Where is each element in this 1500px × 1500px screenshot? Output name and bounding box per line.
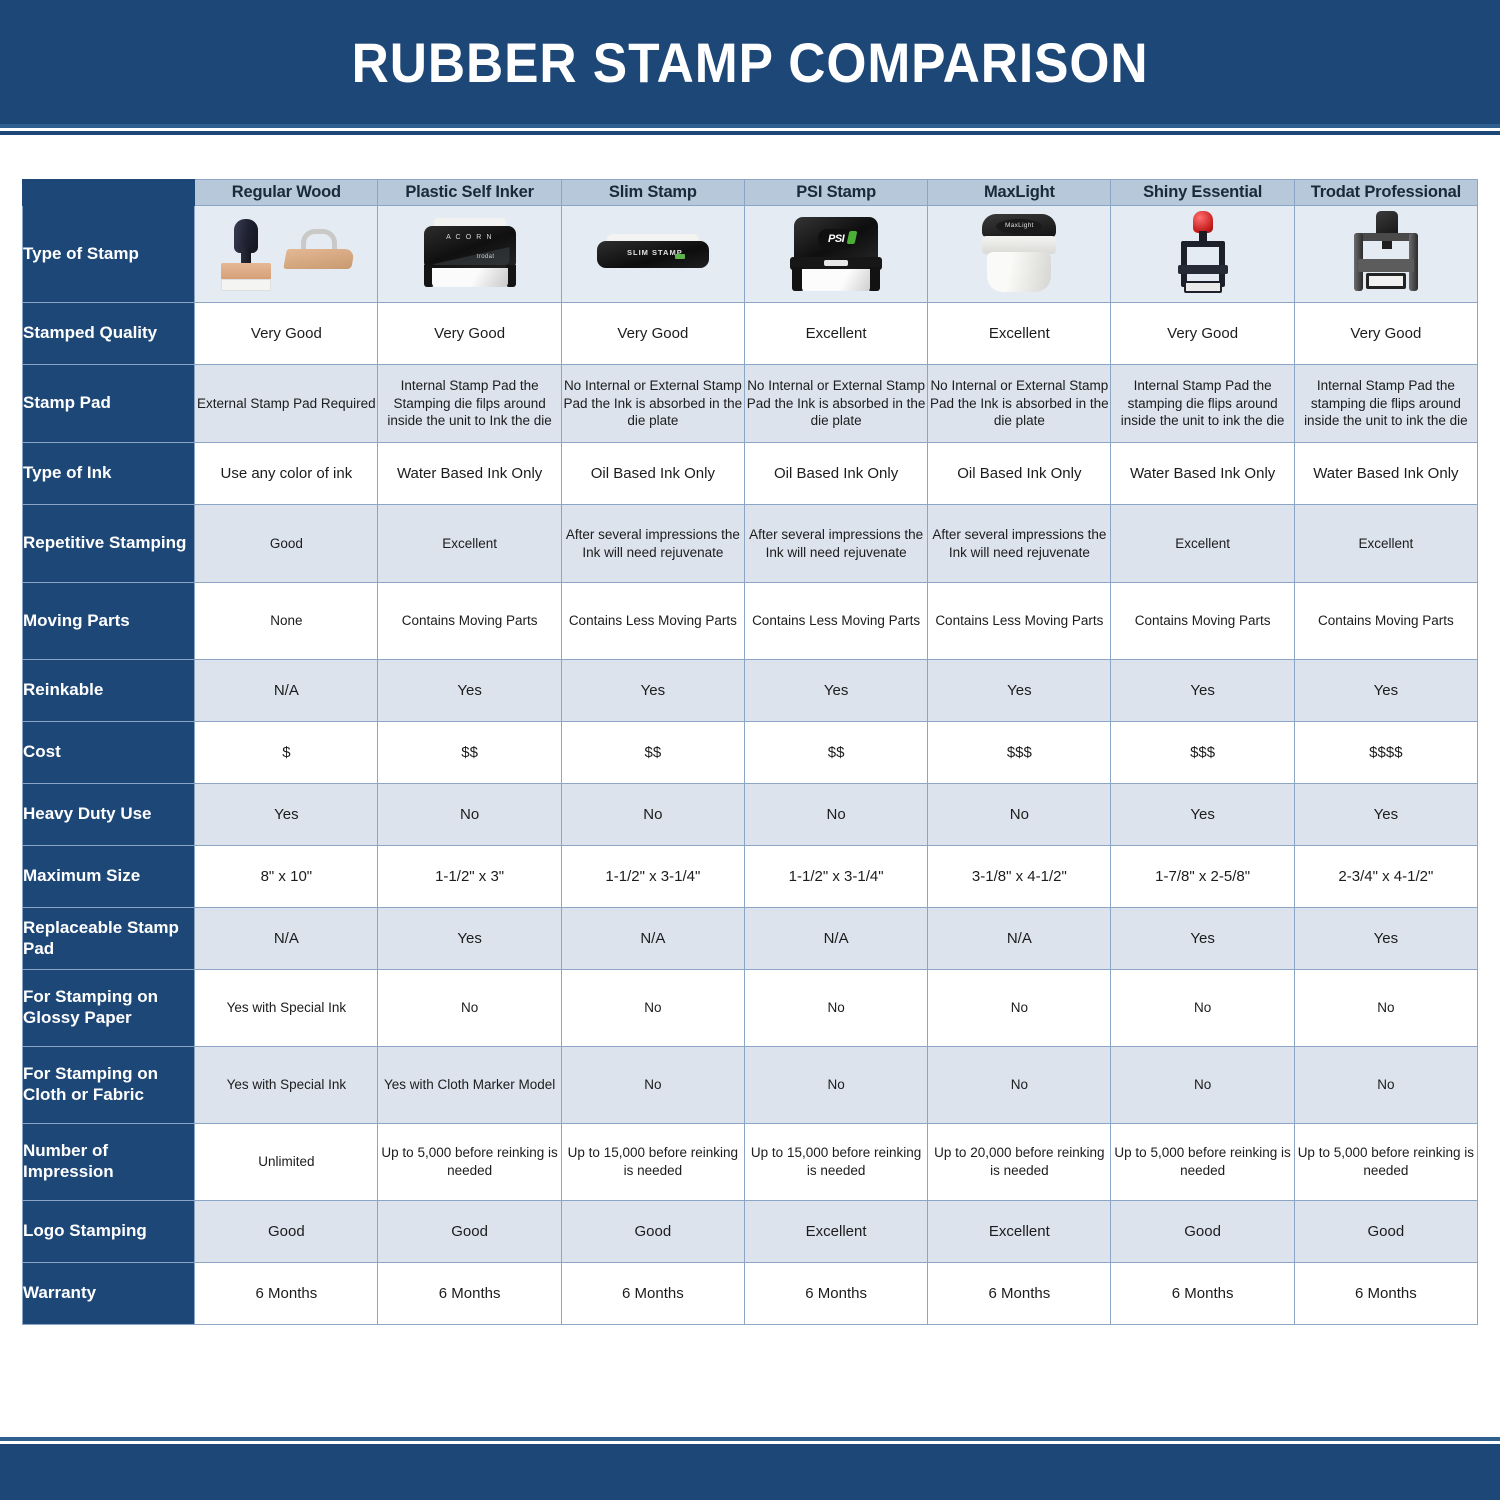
cell-image-maxlight: MaxLight: [928, 206, 1111, 303]
cell-cost-trodat-professional: $$$$: [1294, 722, 1477, 784]
table-row-cloth-or-fabric: For Stamping on Cloth or Fabric Yes with…: [23, 1047, 1478, 1124]
cell-reinkable-trodat-professional: Yes: [1294, 660, 1477, 722]
row-label-replaceable-stamp-pad: Replaceable Stamp Pad: [23, 908, 195, 970]
cell-warranty-shiny-essential: 6 Months: [1111, 1263, 1294, 1325]
cell-number-of-impression-shiny-essential: Up to 5,000 before reinking is needed: [1111, 1124, 1294, 1201]
cell-glossy-paper-shiny-essential: No: [1111, 970, 1294, 1047]
row-label-warranty: Warranty: [23, 1263, 195, 1325]
cell-reinkable-regular-wood: N/A: [195, 660, 378, 722]
table-row-replaceable-stamp-pad: Replaceable Stamp Pad N/A Yes N/A N/A N/…: [23, 908, 1478, 970]
cell-reinkable-plastic-self-inker: Yes: [378, 660, 561, 722]
cell-maximum-size-shiny-essential: 1-7/8" x 2-5/8": [1111, 846, 1294, 908]
cell-number-of-impression-plastic-self-inker: Up to 5,000 before reinking is needed: [378, 1124, 561, 1201]
maxlight-stamp-icon: MaxLight: [928, 206, 1110, 302]
cell-type-of-ink-regular-wood: Use any color of ink: [195, 443, 378, 505]
row-label-moving-parts: Moving Parts: [23, 583, 195, 660]
column-header-regular-wood[interactable]: Regular Wood: [195, 180, 378, 206]
cell-glossy-paper-maxlight: No: [928, 970, 1111, 1047]
cell-cloth-or-fabric-shiny-essential: No: [1111, 1047, 1294, 1124]
cell-reinkable-psi-stamp: Yes: [744, 660, 927, 722]
cell-moving-parts-slim-stamp: Contains Less Moving Parts: [561, 583, 744, 660]
cell-repetitive-stamping-psi-stamp: After several impressions the Ink will n…: [744, 505, 927, 583]
cell-type-of-ink-shiny-essential: Water Based Ink Only: [1111, 443, 1294, 505]
wood-stamp-icon: [195, 206, 377, 302]
cell-replaceable-stamp-pad-regular-wood: N/A: [195, 908, 378, 970]
cell-maximum-size-trodat-professional: 2-3/4" x 4-1/2": [1294, 846, 1477, 908]
cell-logo-stamping-regular-wood: Good: [195, 1201, 378, 1263]
cell-cloth-or-fabric-plastic-self-inker: Yes with Cloth Marker Model: [378, 1047, 561, 1124]
column-header-maxlight[interactable]: MaxLight: [928, 180, 1111, 206]
cell-repetitive-stamping-regular-wood: Good: [195, 505, 378, 583]
plastic-self-inker-icon: A C O R N trodat: [378, 206, 560, 302]
cell-type-of-ink-slim-stamp: Oil Based Ink Only: [561, 443, 744, 505]
cell-warranty-slim-stamp: 6 Months: [561, 1263, 744, 1325]
footer-bar: [0, 1448, 1500, 1500]
cell-repetitive-stamping-slim-stamp: After several impressions the Ink will n…: [561, 505, 744, 583]
row-label-cloth-or-fabric: For Stamping on Cloth or Fabric: [23, 1047, 195, 1124]
cell-glossy-paper-psi-stamp: No: [744, 970, 927, 1047]
cell-logo-stamping-shiny-essential: Good: [1111, 1201, 1294, 1263]
stamp-comparison-table: Regular Wood Plastic Self Inker Slim Sta…: [22, 179, 1478, 1325]
cell-replaceable-stamp-pad-plastic-self-inker: Yes: [378, 908, 561, 970]
cell-number-of-impression-slim-stamp: Up to 15,000 before reinking is needed: [561, 1124, 744, 1201]
cell-logo-stamping-maxlight: Excellent: [928, 1201, 1111, 1263]
cell-stamped-quality-trodat-professional: Very Good: [1294, 303, 1477, 365]
cell-image-trodat-professional: [1294, 206, 1477, 303]
cell-cost-shiny-essential: $$$: [1111, 722, 1294, 784]
cell-stamp-pad-regular-wood: External Stamp Pad Required: [195, 365, 378, 443]
column-header-trodat-professional[interactable]: Trodat Professional: [1294, 180, 1477, 206]
cell-replaceable-stamp-pad-trodat-professional: Yes: [1294, 908, 1477, 970]
trodat-professional-stamp-icon: [1295, 206, 1477, 302]
page-footer: [0, 1437, 1500, 1500]
cell-cost-psi-stamp: $$: [744, 722, 927, 784]
cell-warranty-maxlight: 6 Months: [928, 1263, 1111, 1325]
cell-heavy-duty-use-regular-wood: Yes: [195, 784, 378, 846]
cell-stamped-quality-regular-wood: Very Good: [195, 303, 378, 365]
cell-warranty-plastic-self-inker: 6 Months: [378, 1263, 561, 1325]
cell-number-of-impression-psi-stamp: Up to 15,000 before reinking is needed: [744, 1124, 927, 1201]
cell-replaceable-stamp-pad-shiny-essential: Yes: [1111, 908, 1294, 970]
cell-logo-stamping-psi-stamp: Excellent: [744, 1201, 927, 1263]
cell-cost-plastic-self-inker: $$: [378, 722, 561, 784]
cell-type-of-ink-maxlight: Oil Based Ink Only: [928, 443, 1111, 505]
cell-heavy-duty-use-slim-stamp: No: [561, 784, 744, 846]
cell-cloth-or-fabric-regular-wood: Yes with Special Ink: [195, 1047, 378, 1124]
cell-cost-maxlight: $$$: [928, 722, 1111, 784]
page-title: RUBBER STAMP COMPARISON: [352, 30, 1149, 95]
cell-cloth-or-fabric-trodat-professional: No: [1294, 1047, 1477, 1124]
table-row-warranty: Warranty 6 Months 6 Months 6 Months 6 Mo…: [23, 1263, 1478, 1325]
cell-moving-parts-plastic-self-inker: Contains Moving Parts: [378, 583, 561, 660]
row-label-logo-stamping: Logo Stamping: [23, 1201, 195, 1263]
row-label-repetitive-stamping: Repetitive Stamping: [23, 505, 195, 583]
cell-cost-slim-stamp: $$: [561, 722, 744, 784]
row-label-reinkable: Reinkable: [23, 660, 195, 722]
cell-number-of-impression-trodat-professional: Up to 5,000 before reinking is needed: [1294, 1124, 1477, 1201]
cell-stamped-quality-plastic-self-inker: Very Good: [378, 303, 561, 365]
cell-reinkable-maxlight: Yes: [928, 660, 1111, 722]
cell-heavy-duty-use-shiny-essential: Yes: [1111, 784, 1294, 846]
cell-image-psi-stamp: PSI: [744, 206, 927, 303]
cell-repetitive-stamping-plastic-self-inker: Excellent: [378, 505, 561, 583]
table-row-type-of-ink: Type of Ink Use any color of ink Water B…: [23, 443, 1478, 505]
cell-stamp-pad-psi-stamp: No Internal or External Stamp Pad the In…: [744, 365, 927, 443]
cell-type-of-ink-trodat-professional: Water Based Ink Only: [1294, 443, 1477, 505]
cell-image-plastic-self-inker: A C O R N trodat: [378, 206, 561, 303]
cell-cloth-or-fabric-psi-stamp: No: [744, 1047, 927, 1124]
cell-stamped-quality-maxlight: Excellent: [928, 303, 1111, 365]
column-header-psi-stamp[interactable]: PSI Stamp: [744, 180, 927, 206]
psi-brand-text: PSI: [828, 232, 844, 247]
cell-image-shiny-essential: [1111, 206, 1294, 303]
row-label-number-of-impression: Number of Impression: [23, 1124, 195, 1201]
cell-warranty-psi-stamp: 6 Months: [744, 1263, 927, 1325]
cell-image-regular-wood: [195, 206, 378, 303]
cell-glossy-paper-regular-wood: Yes with Special Ink: [195, 970, 378, 1047]
cell-reinkable-slim-stamp: Yes: [561, 660, 744, 722]
cell-repetitive-stamping-maxlight: After several impressions the Ink will n…: [928, 505, 1111, 583]
banner-divider-inner: [0, 131, 1500, 135]
cell-replaceable-stamp-pad-slim-stamp: N/A: [561, 908, 744, 970]
page-body: Regular Wood Plastic Self Inker Slim Sta…: [0, 179, 1500, 1325]
table-row-number-of-impression: Number of Impression Unlimited Up to 5,0…: [23, 1124, 1478, 1201]
cell-glossy-paper-plastic-self-inker: No: [378, 970, 561, 1047]
table-row-cost: Cost $ $$ $$ $$ $$$ $$$ $$$$: [23, 722, 1478, 784]
shiny-essential-stamp-icon: [1111, 206, 1293, 302]
cell-moving-parts-psi-stamp: Contains Less Moving Parts: [744, 583, 927, 660]
cell-reinkable-shiny-essential: Yes: [1111, 660, 1294, 722]
cell-repetitive-stamping-shiny-essential: Excellent: [1111, 505, 1294, 583]
cell-maximum-size-regular-wood: 8" x 10": [195, 846, 378, 908]
table-row-stamped-quality: Stamped Quality Very Good Very Good Very…: [23, 303, 1478, 365]
trodat-brand-text: trodat: [466, 254, 506, 262]
cell-warranty-regular-wood: 6 Months: [195, 1263, 378, 1325]
cell-moving-parts-shiny-essential: Contains Moving Parts: [1111, 583, 1294, 660]
cell-logo-stamping-trodat-professional: Good: [1294, 1201, 1477, 1263]
cell-cloth-or-fabric-maxlight: No: [928, 1047, 1111, 1124]
table-row-maximum-size: Maximum Size 8" x 10" 1-1/2" x 3" 1-1/2"…: [23, 846, 1478, 908]
table-corner-cell: [23, 180, 195, 206]
cell-stamp-pad-trodat-professional: Internal Stamp Pad the stamping die flip…: [1294, 365, 1477, 443]
table-header-row: Regular Wood Plastic Self Inker Slim Sta…: [23, 180, 1478, 206]
row-label-type-of-ink: Type of Ink: [23, 443, 195, 505]
cell-stamped-quality-slim-stamp: Very Good: [561, 303, 744, 365]
cell-stamp-pad-maxlight: No Internal or External Stamp Pad the In…: [928, 365, 1111, 443]
row-label-type-of-stamp: Type of Stamp: [23, 206, 195, 303]
cell-glossy-paper-trodat-professional: No: [1294, 970, 1477, 1047]
cell-stamped-quality-shiny-essential: Very Good: [1111, 303, 1294, 365]
table-row-logo-stamping: Logo Stamping Good Good Good Excellent E…: [23, 1201, 1478, 1263]
column-header-shiny-essential[interactable]: Shiny Essential: [1111, 180, 1294, 206]
table-row-reinkable: Reinkable N/A Yes Yes Yes Yes Yes Yes: [23, 660, 1478, 722]
cell-replaceable-stamp-pad-psi-stamp: N/A: [744, 908, 927, 970]
page-banner: RUBBER STAMP COMPARISON: [0, 0, 1500, 124]
row-label-maximum-size: Maximum Size: [23, 846, 195, 908]
cell-stamped-quality-psi-stamp: Excellent: [744, 303, 927, 365]
cell-number-of-impression-regular-wood: Unlimited: [195, 1124, 378, 1201]
cell-glossy-paper-slim-stamp: No: [561, 970, 744, 1047]
cell-moving-parts-trodat-professional: Contains Moving Parts: [1294, 583, 1477, 660]
row-label-cost: Cost: [23, 722, 195, 784]
cell-heavy-duty-use-trodat-professional: Yes: [1294, 784, 1477, 846]
slim-stamp-icon: SLIM STAMP: [562, 206, 744, 302]
column-header-slim-stamp[interactable]: Slim Stamp: [561, 180, 744, 206]
cell-stamp-pad-shiny-essential: Internal Stamp Pad the stamping die flip…: [1111, 365, 1294, 443]
cell-image-slim-stamp: SLIM STAMP: [561, 206, 744, 303]
cell-moving-parts-regular-wood: None: [195, 583, 378, 660]
cell-moving-parts-maxlight: Contains Less Moving Parts: [928, 583, 1111, 660]
cell-cost-regular-wood: $: [195, 722, 378, 784]
row-label-heavy-duty-use: Heavy Duty Use: [23, 784, 195, 846]
row-label-glossy-paper: For Stamping on Glossy Paper: [23, 970, 195, 1047]
acorn-brand-text: A C O R N: [440, 233, 500, 242]
cell-heavy-duty-use-plastic-self-inker: No: [378, 784, 561, 846]
cell-maximum-size-psi-stamp: 1-1/2" x 3-1/4": [744, 846, 927, 908]
table-row-repetitive-stamping: Repetitive Stamping Good Excellent After…: [23, 505, 1478, 583]
cell-logo-stamping-slim-stamp: Good: [561, 1201, 744, 1263]
cell-cloth-or-fabric-slim-stamp: No: [561, 1047, 744, 1124]
cell-maximum-size-plastic-self-inker: 1-1/2" x 3": [378, 846, 561, 908]
cell-stamp-pad-slim-stamp: No Internal or External Stamp Pad the In…: [561, 365, 744, 443]
cell-heavy-duty-use-psi-stamp: No: [744, 784, 927, 846]
cell-type-of-ink-plastic-self-inker: Water Based Ink Only: [378, 443, 561, 505]
table-row-moving-parts: Moving Parts None Contains Moving Parts …: [23, 583, 1478, 660]
cell-stamp-pad-plastic-self-inker: Internal Stamp Pad the Stamping die filp…: [378, 365, 561, 443]
cell-replaceable-stamp-pad-maxlight: N/A: [928, 908, 1111, 970]
cell-number-of-impression-maxlight: Up to 20,000 before reinking is needed: [928, 1124, 1111, 1201]
table-row-stamp-pad: Stamp Pad External Stamp Pad Required In…: [23, 365, 1478, 443]
row-label-stamped-quality: Stamped Quality: [23, 303, 195, 365]
row-label-stamp-pad: Stamp Pad: [23, 365, 195, 443]
cell-logo-stamping-plastic-self-inker: Good: [378, 1201, 561, 1263]
cell-heavy-duty-use-maxlight: No: [928, 784, 1111, 846]
cell-type-of-ink-psi-stamp: Oil Based Ink Only: [744, 443, 927, 505]
table-row-type-of-stamp: Type of Stamp: [23, 206, 1478, 303]
psi-stamp-icon: PSI: [745, 206, 927, 302]
cell-maximum-size-maxlight: 3-1/8" x 4-1/2": [928, 846, 1111, 908]
column-header-plastic-self-inker[interactable]: Plastic Self Inker: [378, 180, 561, 206]
table-row-heavy-duty-use: Heavy Duty Use Yes No No No No Yes Yes: [23, 784, 1478, 846]
cell-warranty-trodat-professional: 6 Months: [1294, 1263, 1477, 1325]
cell-maximum-size-slim-stamp: 1-1/2" x 3-1/4": [561, 846, 744, 908]
table-row-glossy-paper: For Stamping on Glossy Paper Yes with Sp…: [23, 970, 1478, 1047]
cell-repetitive-stamping-trodat-professional: Excellent: [1294, 505, 1477, 583]
